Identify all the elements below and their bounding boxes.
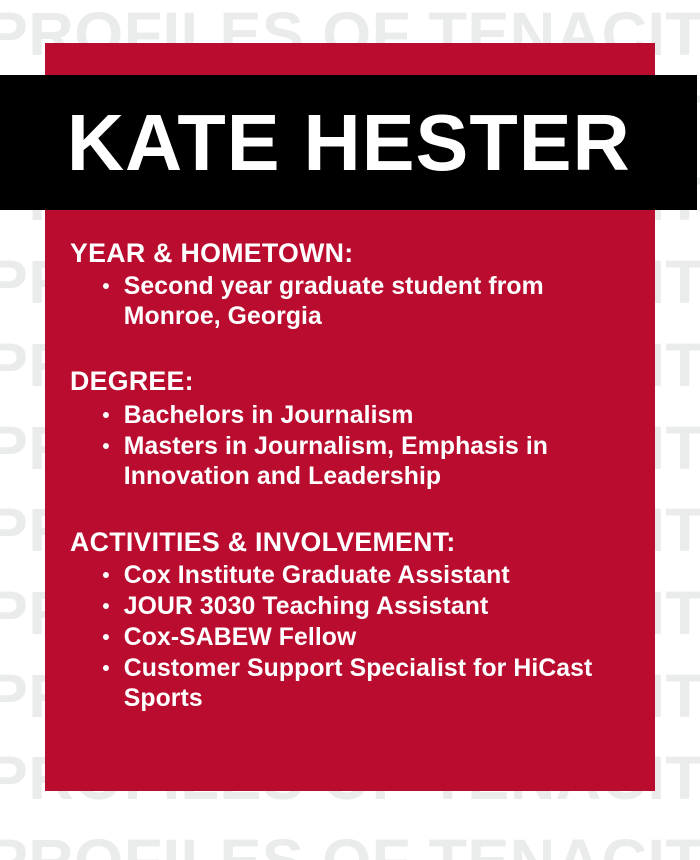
- bullet-dot-icon: [103, 572, 109, 578]
- list-item: Second year graduate student from Monroe…: [101, 271, 628, 331]
- list-item-text: Cox Institute Graduate Assistant: [124, 561, 510, 589]
- list-item-text: Masters in Journalism, Emphasis in Innov…: [124, 432, 548, 490]
- list-item: Cox-SABEW Fellow: [101, 622, 628, 652]
- section-heading: ACTIVITIES & INVOLVEMENT:: [70, 527, 627, 558]
- bullet-dot-icon: [103, 665, 109, 671]
- list-item-text: Second year graduate student from Monroe…: [124, 272, 544, 330]
- bullet-list: Cox Institute Graduate Assistant JOUR 30…: [70, 560, 633, 713]
- name-banner: KATE HESTER: [0, 75, 697, 210]
- list-item: JOUR 3030 Teaching Assistant: [101, 591, 628, 621]
- bullet-dot-icon: [103, 412, 109, 418]
- watermark-text: PROFILES OF TENACITY: [0, 831, 700, 860]
- bullet-list: Bachelors in Journalism Masters in Journ…: [70, 400, 633, 491]
- list-item-text: Bachelors in Journalism: [124, 401, 414, 429]
- list-item: Masters in Journalism, Emphasis in Innov…: [101, 431, 628, 491]
- section-year-hometown: YEAR & HOMETOWN: Second year graduate st…: [70, 238, 633, 331]
- profile-name: KATE HESTER: [67, 103, 631, 183]
- bullet-dot-icon: [103, 603, 109, 609]
- list-item: Bachelors in Journalism: [101, 400, 628, 430]
- section-activities-involvement: ACTIVITIES & INVOLVEMENT: Cox Institute …: [70, 527, 633, 713]
- list-item-text: JOUR 3030 Teaching Assistant: [124, 592, 489, 620]
- section-spacer: [70, 339, 633, 366]
- list-item-text: Cox-SABEW Fellow: [124, 623, 357, 651]
- section-spacer: [70, 499, 633, 527]
- bullet-dot-icon: [103, 283, 109, 289]
- bullet-dot-icon: [103, 634, 109, 640]
- list-item-text: Customer Support Specialist for HiCast S…: [124, 654, 593, 712]
- list-item: Customer Support Specialist for HiCast S…: [101, 653, 628, 713]
- profile-poster: PROFILES OF TENACITYPROFILES OF TENACITY…: [0, 0, 700, 860]
- profile-details: YEAR & HOMETOWN: Second year graduate st…: [45, 210, 655, 791]
- bullet-dot-icon: [103, 443, 109, 449]
- section-heading: DEGREE:: [70, 366, 627, 397]
- section-heading: YEAR & HOMETOWN:: [70, 238, 627, 269]
- list-item: Cox Institute Graduate Assistant: [101, 560, 628, 590]
- section-degree: DEGREE: Bachelors in Journalism Masters …: [70, 366, 633, 490]
- bullet-list: Second year graduate student from Monroe…: [70, 271, 633, 331]
